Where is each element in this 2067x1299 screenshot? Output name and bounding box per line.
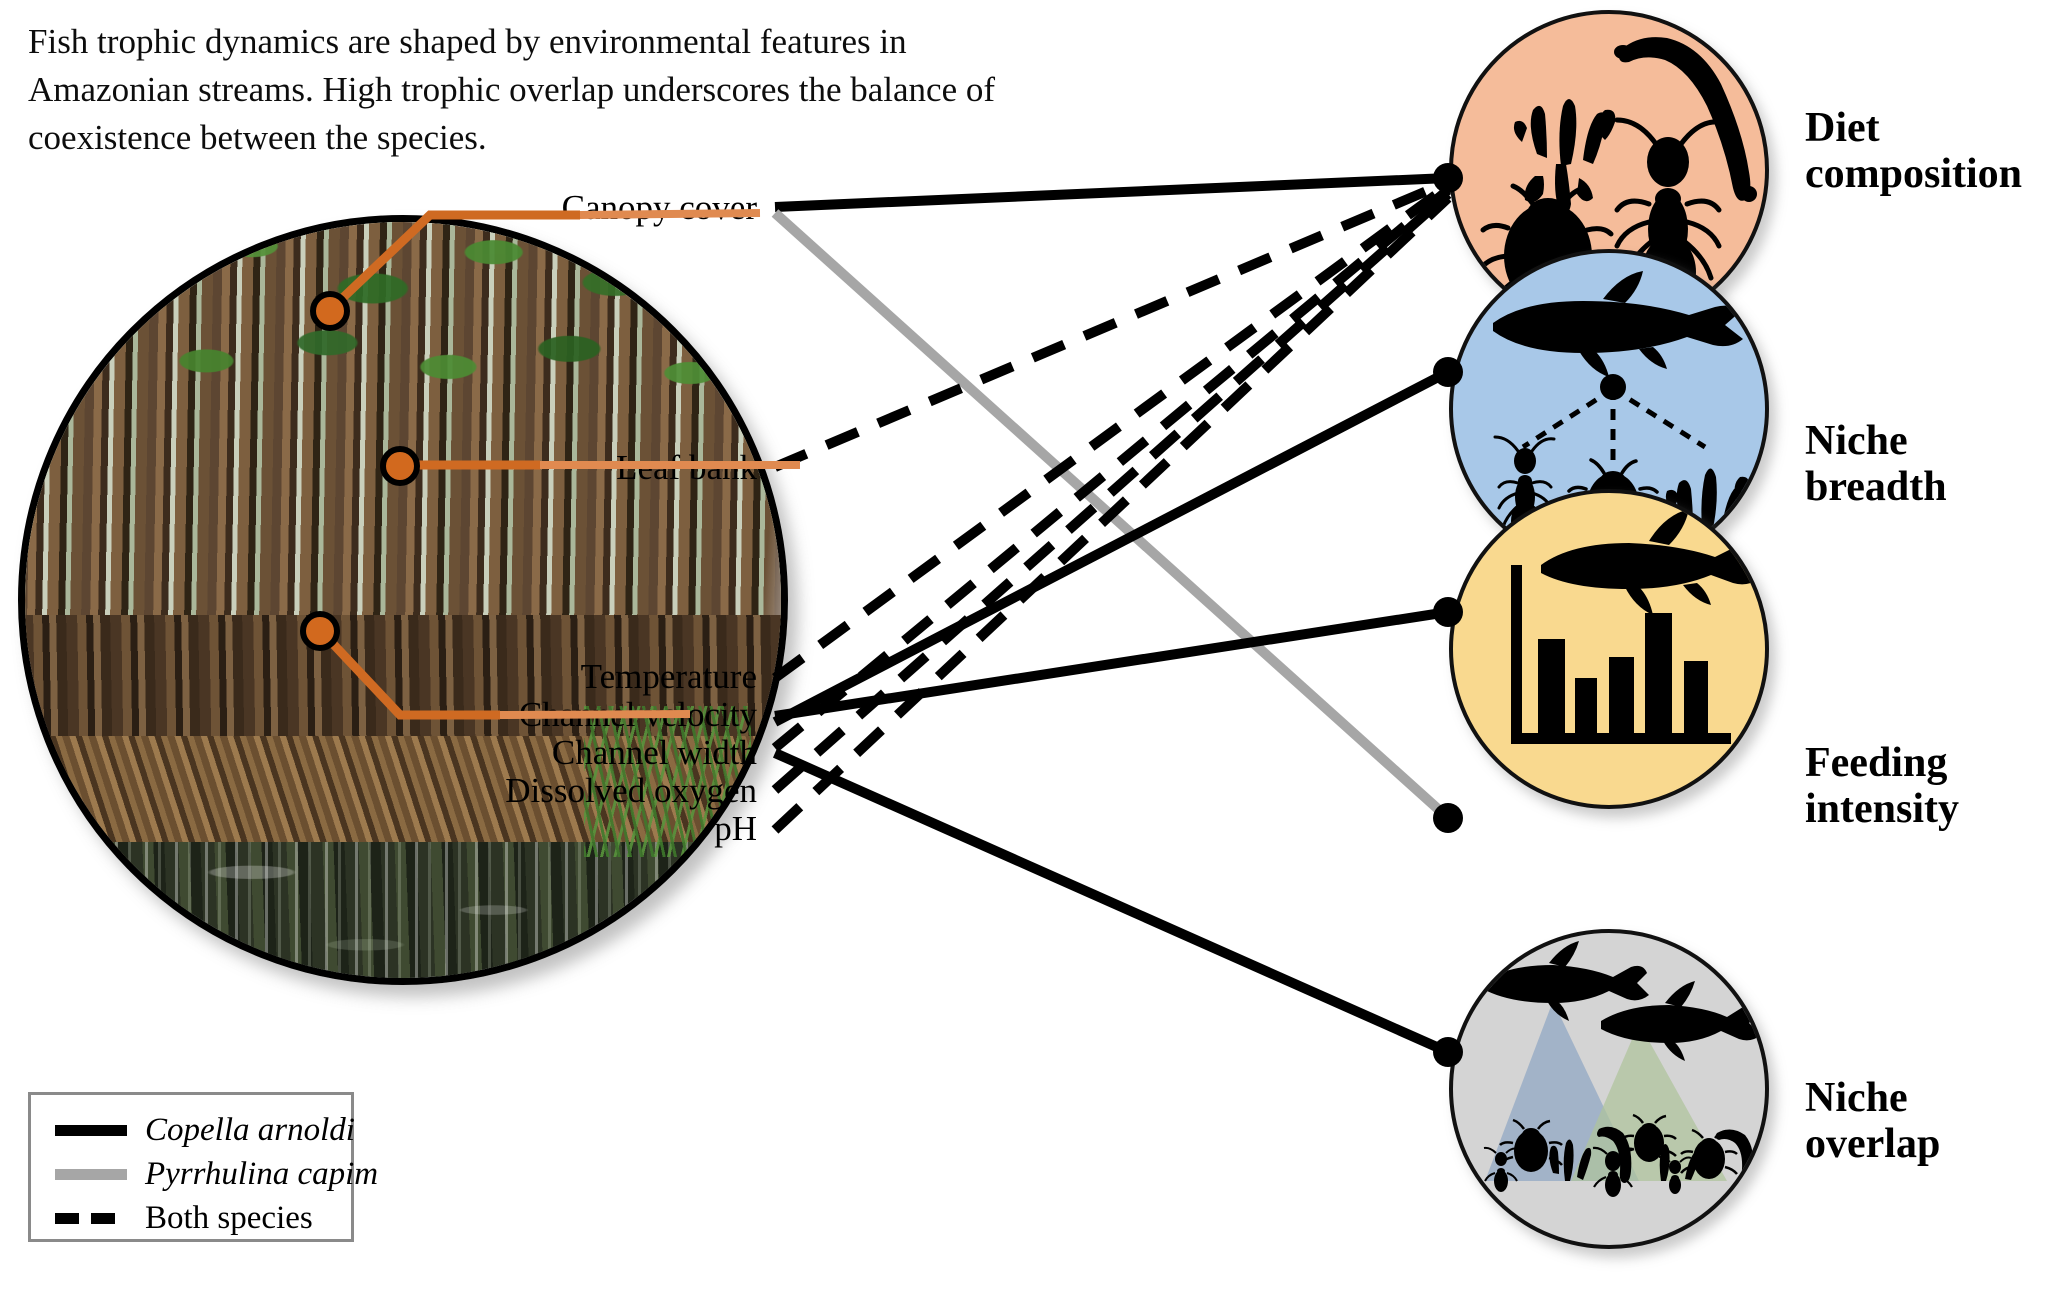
photo-leader-lines xyxy=(0,0,2067,1299)
canopy-cover-marker[interactable] xyxy=(310,291,350,331)
canopy-cover-leader xyxy=(330,215,580,310)
canopy-cover-leader-tail xyxy=(580,213,760,215)
leaf-bank-marker[interactable] xyxy=(380,446,420,486)
channel-leader xyxy=(320,630,500,715)
channel-leader-tail xyxy=(500,714,690,715)
stream-channel-marker[interactable] xyxy=(300,611,340,651)
